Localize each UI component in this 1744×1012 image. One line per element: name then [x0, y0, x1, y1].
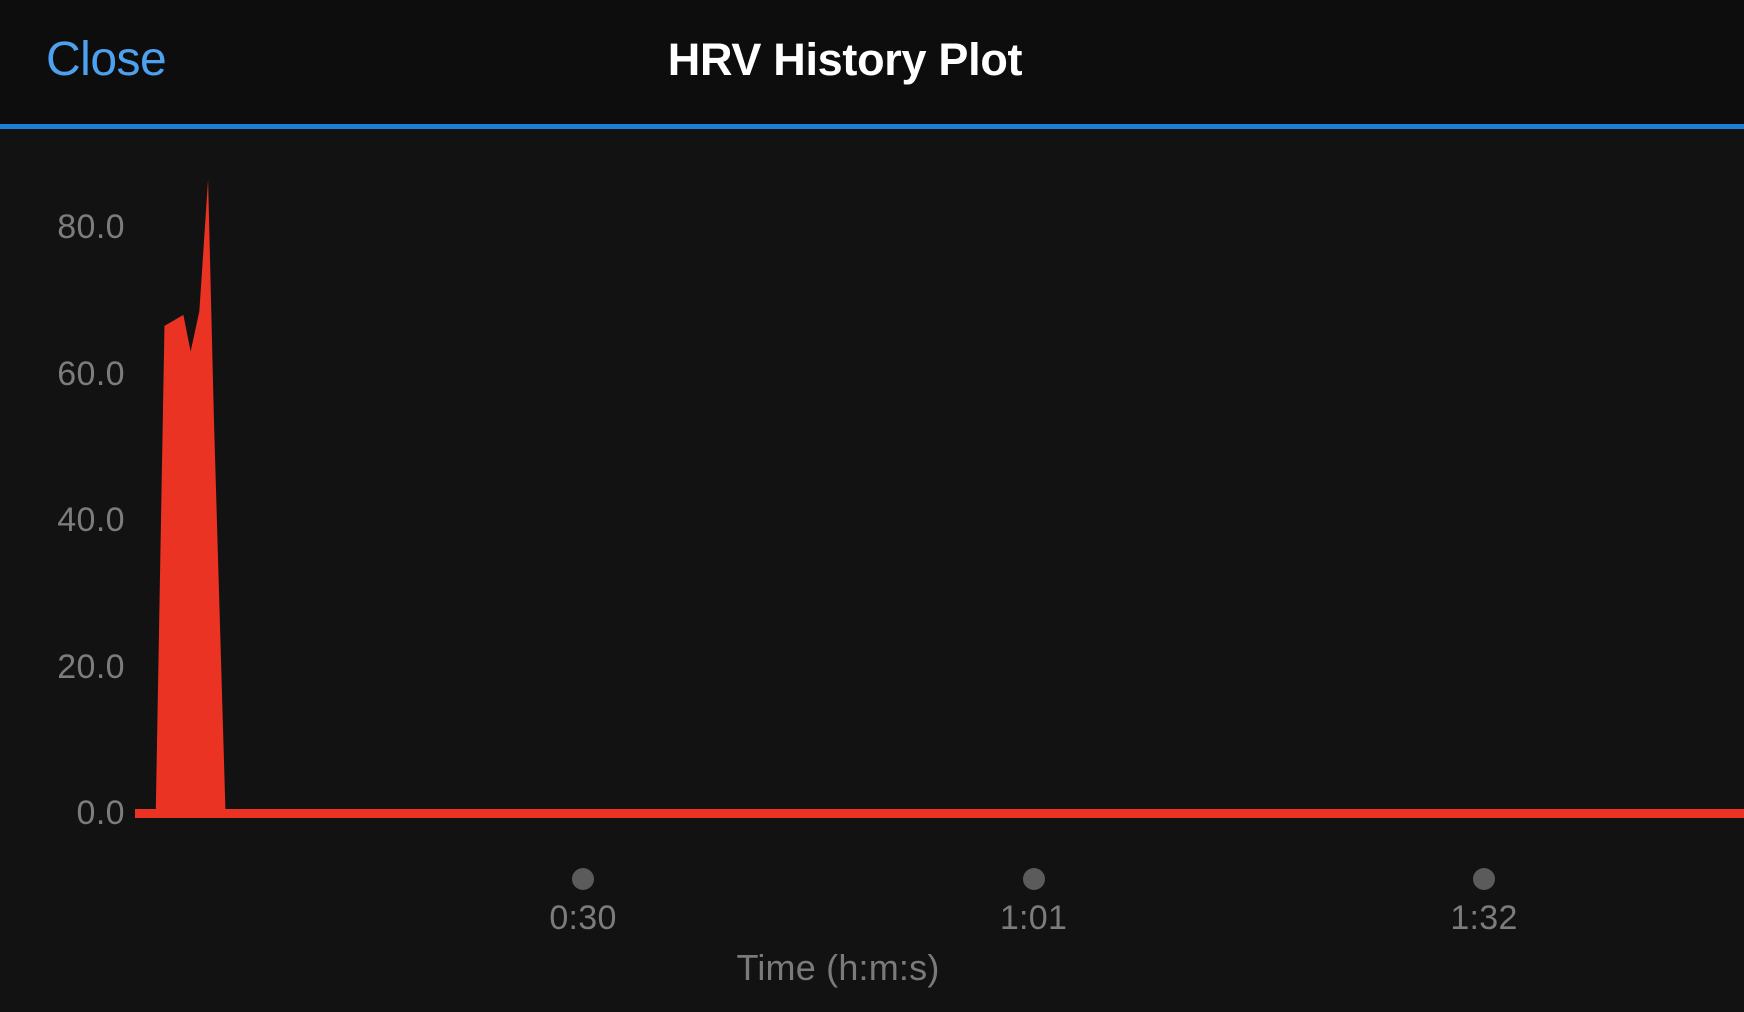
x-tick: 0:30 — [483, 868, 683, 938]
x-tick-label: 1:32 — [1384, 898, 1584, 938]
hrv-area-path — [135, 179, 1744, 813]
x-tick-dot-icon — [1473, 868, 1495, 890]
x-tick: 1:32 — [1384, 868, 1584, 938]
x-axis-title: Time (h:m:s) — [0, 946, 1710, 990]
y-axis: 80.0 60.0 40.0 20.0 0.0 — [0, 129, 125, 889]
y-tick-label: 0.0 — [5, 793, 125, 833]
x-axis: 0:30 1:01 1:32 — [0, 868, 1744, 958]
y-tick-label: 80.0 — [5, 207, 125, 247]
x-tick: 1:01 — [934, 868, 1134, 938]
header-bar: Close HRV History Plot — [0, 0, 1744, 128]
page-title: HRV History Plot — [0, 31, 1717, 89]
y-tick-label: 20.0 — [5, 647, 125, 687]
y-tick-label: 40.0 — [5, 500, 125, 540]
x-tick-dot-icon — [1023, 868, 1045, 890]
hrv-series — [135, 179, 1744, 818]
y-tick-label: 60.0 — [5, 354, 125, 394]
hrv-baseline — [135, 809, 1744, 818]
x-tick-label: 1:01 — [934, 898, 1134, 938]
hrv-history-plot-screen: Close HRV History Plot 80.0 60.0 40.0 20… — [0, 0, 1744, 1012]
x-tick-label: 0:30 — [483, 898, 683, 938]
x-tick-dot-icon — [572, 868, 594, 890]
